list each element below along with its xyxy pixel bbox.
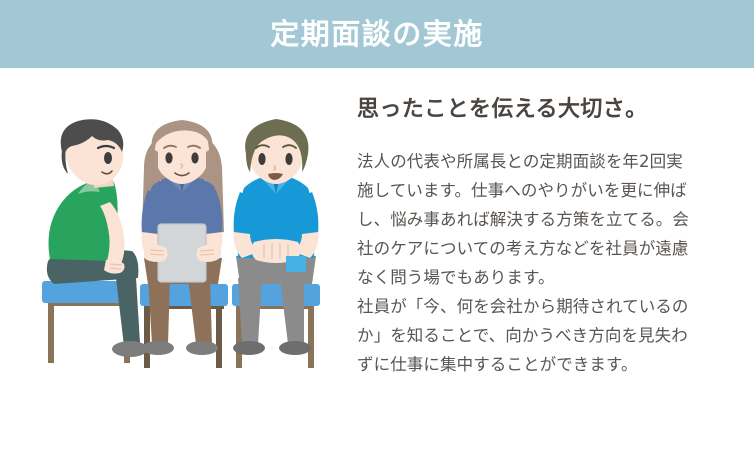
- person-left: [47, 119, 148, 357]
- body-paragraph-2: 社員が「今、何を会社から期待されているのか」を知ることで、向かうべき方向を見失わ…: [357, 292, 697, 379]
- body-copy: 法人の代表や所属長との定期面談を年2回実施しています。仕事へのやりがいを更に伸ば…: [357, 147, 697, 379]
- text-column: 思ったことを伝える大切さ。 法人の代表や所属長との定期面談を年2回実施しています…: [357, 96, 697, 379]
- three-people-meeting-illustration: [40, 118, 330, 380]
- header-banner: 定期面談の実施: [0, 0, 754, 68]
- body-paragraph-1: 法人の代表や所属長との定期面談を年2回実施しています。仕事へのやりがいを更に伸ば…: [357, 147, 697, 292]
- content-area: 思ったことを伝える大切さ。 法人の代表や所属長との定期面談を年2回実施しています…: [0, 68, 754, 460]
- page-title: 定期面談の実施: [270, 20, 484, 49]
- lead-heading: 思ったことを伝える大切さ。: [357, 96, 697, 125]
- person-right: [233, 119, 318, 355]
- page-root: 定期面談の実施: [0, 0, 754, 460]
- person-center: [142, 120, 224, 355]
